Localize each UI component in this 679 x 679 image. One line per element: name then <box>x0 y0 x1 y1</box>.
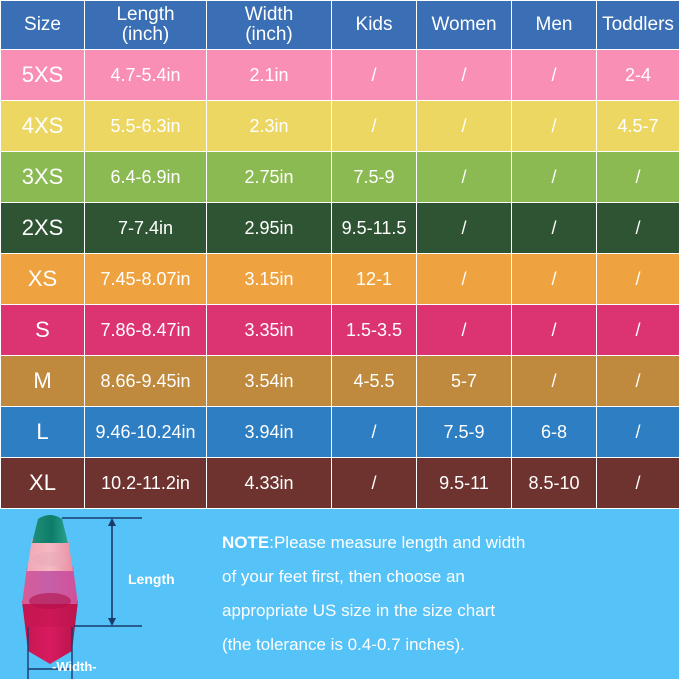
cell-toddlers: / <box>597 305 679 356</box>
cell-toddlers: / <box>597 407 679 458</box>
cell-women: / <box>417 305 512 356</box>
table-row: 3XS6.4-6.9in2.75in7.5-9/// <box>1 152 679 203</box>
column-header-label: Men <box>536 14 573 35</box>
cell-width: 3.54in <box>207 356 332 407</box>
cell-kids: / <box>332 50 417 101</box>
cell-length: 5.5-6.3in <box>85 101 207 152</box>
length-dimension-label: Length <box>128 571 175 587</box>
cell-length: 10.2-11.2in <box>85 458 207 509</box>
cell-toddlers: / <box>597 203 679 254</box>
fin-diagram-panel: Length -Width- <box>0 509 212 679</box>
note-banner: Length -Width- NOTE:Please measure lengt… <box>0 509 679 679</box>
column-header-women: Women <box>417 1 512 50</box>
cell-women: / <box>417 203 512 254</box>
cell-width: 2.1in <box>207 50 332 101</box>
cell-men: / <box>512 305 597 356</box>
column-header-length: Length(inch) <box>85 1 207 50</box>
column-header-size: Size <box>1 1 85 50</box>
cell-women: / <box>417 152 512 203</box>
width-dimension-label: -Width- <box>52 659 97 674</box>
cell-women: / <box>417 50 512 101</box>
cell-women: 7.5-9 <box>417 407 512 458</box>
column-header-toddlers: Toddlers <box>597 1 679 50</box>
cell-men: / <box>512 203 597 254</box>
cell-width: 2.95in <box>207 203 332 254</box>
cell-men: 6-8 <box>512 407 597 458</box>
note-line: of your feet first, then choose an <box>222 560 665 594</box>
column-header-unit: (inch) <box>207 25 331 45</box>
cell-women: 9.5-11 <box>417 458 512 509</box>
cell-men: 8.5-10 <box>512 458 597 509</box>
size-label-cell: 4XS <box>1 101 85 152</box>
cell-toddlers: / <box>597 458 679 509</box>
column-header-label: Women <box>431 14 496 35</box>
fin-upper-highlight <box>33 552 67 566</box>
table-row: S7.86-8.47in3.35in1.5-3.5/// <box>1 305 679 356</box>
size-label-cell: L <box>1 407 85 458</box>
cell-toddlers: / <box>597 254 679 305</box>
cell-kids: 4-5.5 <box>332 356 417 407</box>
cell-length: 9.46-10.24in <box>85 407 207 458</box>
column-header-width: Width(inch) <box>207 1 332 50</box>
cell-width: 4.33in <box>207 458 332 509</box>
cell-kids: / <box>332 101 417 152</box>
size-chart-table: SizeLength(inch)Width(inch)KidsWomenMenT… <box>0 0 679 509</box>
cell-kids: / <box>332 407 417 458</box>
swim-fin-illustration <box>0 509 212 679</box>
cell-toddlers: 4.5-7 <box>597 101 679 152</box>
cell-kids: 12-1 <box>332 254 417 305</box>
cell-women: 5-7 <box>417 356 512 407</box>
cell-kids: 7.5-9 <box>332 152 417 203</box>
note-line: NOTE:Please measure length and width <box>222 526 665 560</box>
size-label-cell: M <box>1 356 85 407</box>
size-label-cell: 2XS <box>1 203 85 254</box>
cell-women: / <box>417 101 512 152</box>
cell-length: 4.7-5.4in <box>85 50 207 101</box>
length-arrow-up <box>108 518 116 526</box>
cell-women: / <box>417 254 512 305</box>
size-chart-root: SizeLength(inch)Width(inch)KidsWomenMenT… <box>0 0 679 679</box>
table-row: 2XS7-7.4in2.95in9.5-11.5/// <box>1 203 679 254</box>
cell-width: 3.15in <box>207 254 332 305</box>
cell-length: 7.45-8.07in <box>85 254 207 305</box>
cell-men: / <box>512 101 597 152</box>
cell-width: 3.94in <box>207 407 332 458</box>
cell-men: / <box>512 152 597 203</box>
column-header-kids: Kids <box>332 1 417 50</box>
note-line: appropriate US size in the size chart <box>222 594 665 628</box>
cell-length: 7.86-8.47in <box>85 305 207 356</box>
table-header: SizeLength(inch)Width(inch)KidsWomenMenT… <box>1 1 679 50</box>
table-row: 5XS4.7-5.4in2.1in///2-4 <box>1 50 679 101</box>
table-row: 4XS5.5-6.3in2.3in///4.5-7 <box>1 101 679 152</box>
table-row: XL10.2-11.2in4.33in/9.5-118.5-10/ <box>1 458 679 509</box>
table-row: L9.46-10.24in3.94in/7.5-96-8/ <box>1 407 679 458</box>
size-label-cell: XL <box>1 458 85 509</box>
column-header-label: Length <box>116 4 174 25</box>
column-header-label: Kids <box>356 14 393 35</box>
size-label-cell: S <box>1 305 85 356</box>
cell-toddlers: / <box>597 356 679 407</box>
table-body: 5XS4.7-5.4in2.1in///2-44XS5.5-6.3in2.3in… <box>1 50 679 509</box>
cell-length: 6.4-6.9in <box>85 152 207 203</box>
cell-men: / <box>512 50 597 101</box>
column-header-unit: (inch) <box>85 25 206 45</box>
note-line: (the tolerance is 0.4-0.7 inches). <box>222 628 665 662</box>
cell-width: 3.35in <box>207 305 332 356</box>
table-row: M8.66-9.45in3.54in4-5.55-7// <box>1 356 679 407</box>
cell-toddlers: / <box>597 152 679 203</box>
column-header-label: Width <box>245 4 294 25</box>
cell-men: / <box>512 254 597 305</box>
fin-toe-cap <box>32 515 68 543</box>
cell-length: 8.66-9.45in <box>85 356 207 407</box>
table-row: XS7.45-8.07in3.15in12-1/// <box>1 254 679 305</box>
table-header-row: SizeLength(inch)Width(inch)KidsWomenMenT… <box>1 1 679 50</box>
cell-width: 2.3in <box>207 101 332 152</box>
cell-men: / <box>512 356 597 407</box>
cell-toddlers: 2-4 <box>597 50 679 101</box>
length-arrow-down <box>108 618 116 626</box>
cell-kids: / <box>332 458 417 509</box>
fin-heel-opening <box>29 593 71 609</box>
note-label: NOTE <box>222 533 269 552</box>
cell-length: 7-7.4in <box>85 203 207 254</box>
column-header-men: Men <box>512 1 597 50</box>
note-text: :Please measure length and width <box>269 533 525 552</box>
column-header-label: Toddlers <box>602 14 674 35</box>
size-label-cell: 5XS <box>1 50 85 101</box>
column-header-label: Size <box>24 14 61 35</box>
cell-width: 2.75in <box>207 152 332 203</box>
size-label-cell: XS <box>1 254 85 305</box>
size-label-cell: 3XS <box>1 152 85 203</box>
note-panel: NOTE:Please measure length and widthof y… <box>212 509 679 679</box>
cell-kids: 1.5-3.5 <box>332 305 417 356</box>
cell-kids: 9.5-11.5 <box>332 203 417 254</box>
